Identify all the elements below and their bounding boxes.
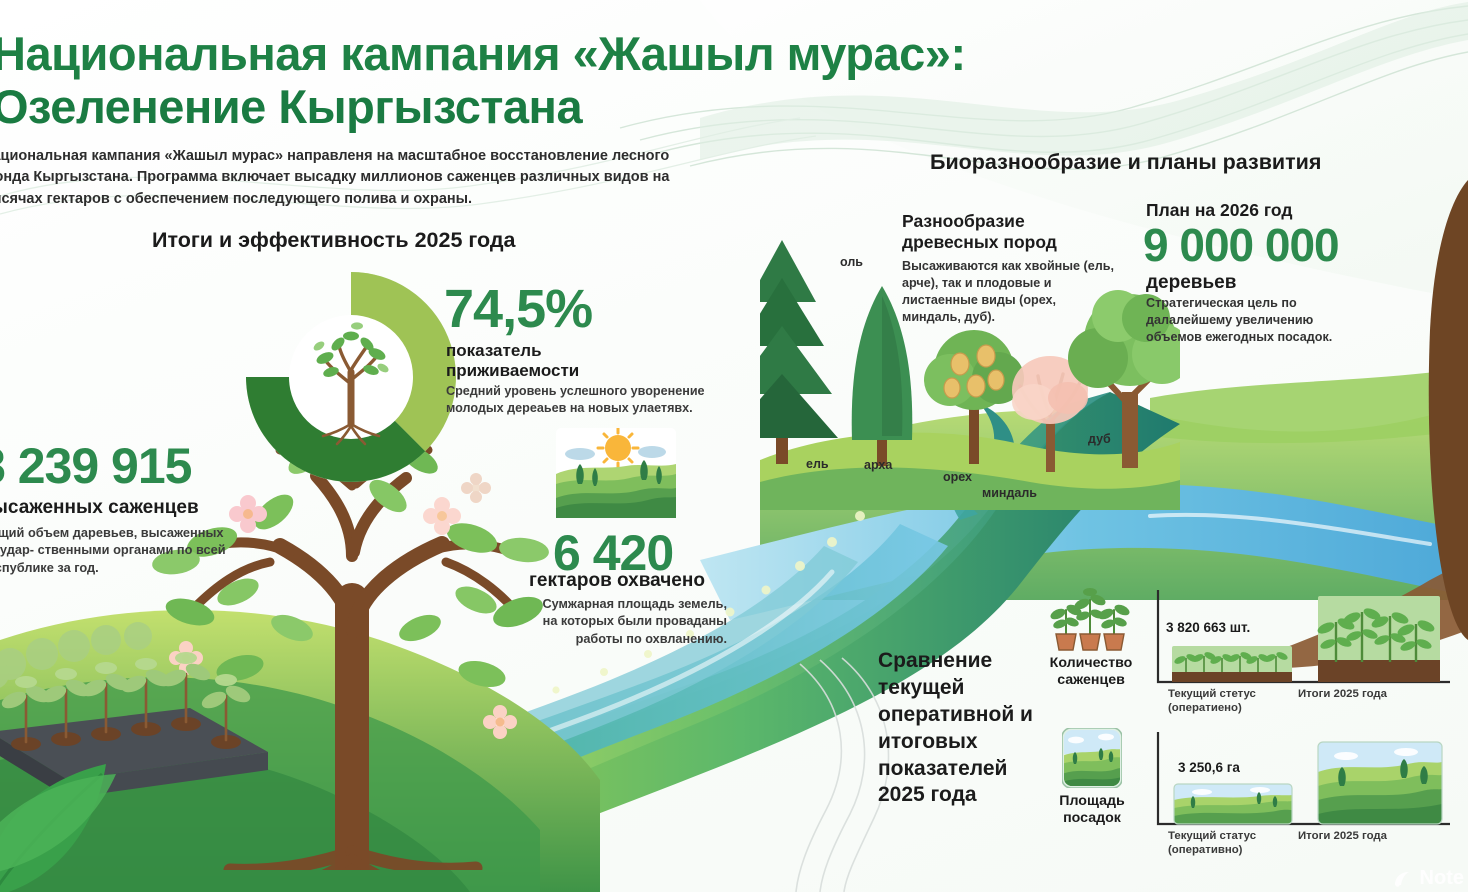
comparison-row-1-caption-final: Итоги 2025 года [1298, 830, 1428, 844]
hectares-description: Сумжарная площадь земель, на которых был… [527, 596, 727, 648]
comparison-row-1-icon-label: Площадь посадок [1032, 793, 1152, 827]
infographic-poster: Национальная кампания «Жашыл мурас»: Озе… [0, 0, 1468, 892]
species-label-dub: дуб [1088, 432, 1111, 446]
plan-2026-value: 9 000 000 [1143, 222, 1339, 268]
species-label-oreh: орех [943, 470, 972, 484]
seedlings-planted-description: Общий объем даревьев, высаженных государ… [0, 524, 230, 576]
watermark-text: Note [1420, 867, 1464, 890]
watermark: Note [1392, 867, 1464, 890]
plan-2026-label: План на 2026 год [1146, 200, 1292, 221]
comparison-row-0-icon-label: Количество саженцев [1028, 655, 1154, 689]
foreground-leaves [0, 740, 196, 892]
seedlings-planted-label: высаженных саженцев [0, 497, 280, 519]
title-line-2: Озеленение Кыргызстана [0, 81, 1112, 134]
landscape-square-icon [1062, 728, 1122, 788]
landscape-fields-icon [556, 428, 676, 518]
seedlings-planted-value: 8 239 915 [0, 441, 191, 491]
survival-rate-description: Средний уровень услешного уворенение мол… [446, 383, 706, 416]
section-heading-results: Итоги и эффективность 2025 года [152, 228, 672, 253]
comparison-row-1-caption-current: Текущий статус (оперативно) [1168, 830, 1298, 857]
page-title: Национальная кампания «Жашыл мурас»: Озе… [0, 28, 1112, 133]
survival-rate-value: 74,5% [444, 282, 592, 336]
plan-2026-description: Стратегическая цель по далалейшему увели… [1146, 295, 1361, 346]
comparison-row-0-caption-current: Текущий стетус (оператиено) [1168, 688, 1298, 715]
survival-donut-chart [236, 262, 466, 492]
comparison-row-1-value: 3 250,6 га [1178, 760, 1240, 775]
comparison-row-0-caption-final: Итоги 2025 года [1298, 688, 1428, 702]
notegpt-logo-icon [1392, 868, 1414, 890]
section-heading-biodiversity: Биоразнообразие и планы развития [930, 150, 1450, 175]
title-line-1: Национальная кампания «Жашыл мурас»: [0, 28, 1112, 81]
comparison-heading: Сравнение текущей оперативной и итоговых… [878, 648, 1048, 809]
species-label-arha: арха [864, 458, 892, 472]
species-label-el: ель [806, 457, 829, 471]
comparison-chart-area [1150, 730, 1460, 840]
seedling-pots-icon [1050, 586, 1130, 652]
species-diversity-label: Разнообразие древесных пород [902, 211, 1132, 253]
hectares-label: гектаров охвачено [529, 570, 789, 592]
intro-paragraph: Национальная кампания «Жашыл мурас» напр… [0, 146, 702, 210]
species-label-ol: оль [840, 255, 863, 269]
species-diversity-description: Высаживаются как хвойные (ель, арче), та… [902, 258, 1118, 326]
survival-rate-label: показатель приживаемости [446, 341, 696, 382]
species-label-mindal: миндаль [982, 486, 1037, 500]
plan-2026-unit: деревьев [1146, 272, 1236, 294]
comparison-row-0-value: 3 820 663 шт. [1166, 620, 1250, 635]
comparison-chart-seedlings [1150, 588, 1460, 698]
